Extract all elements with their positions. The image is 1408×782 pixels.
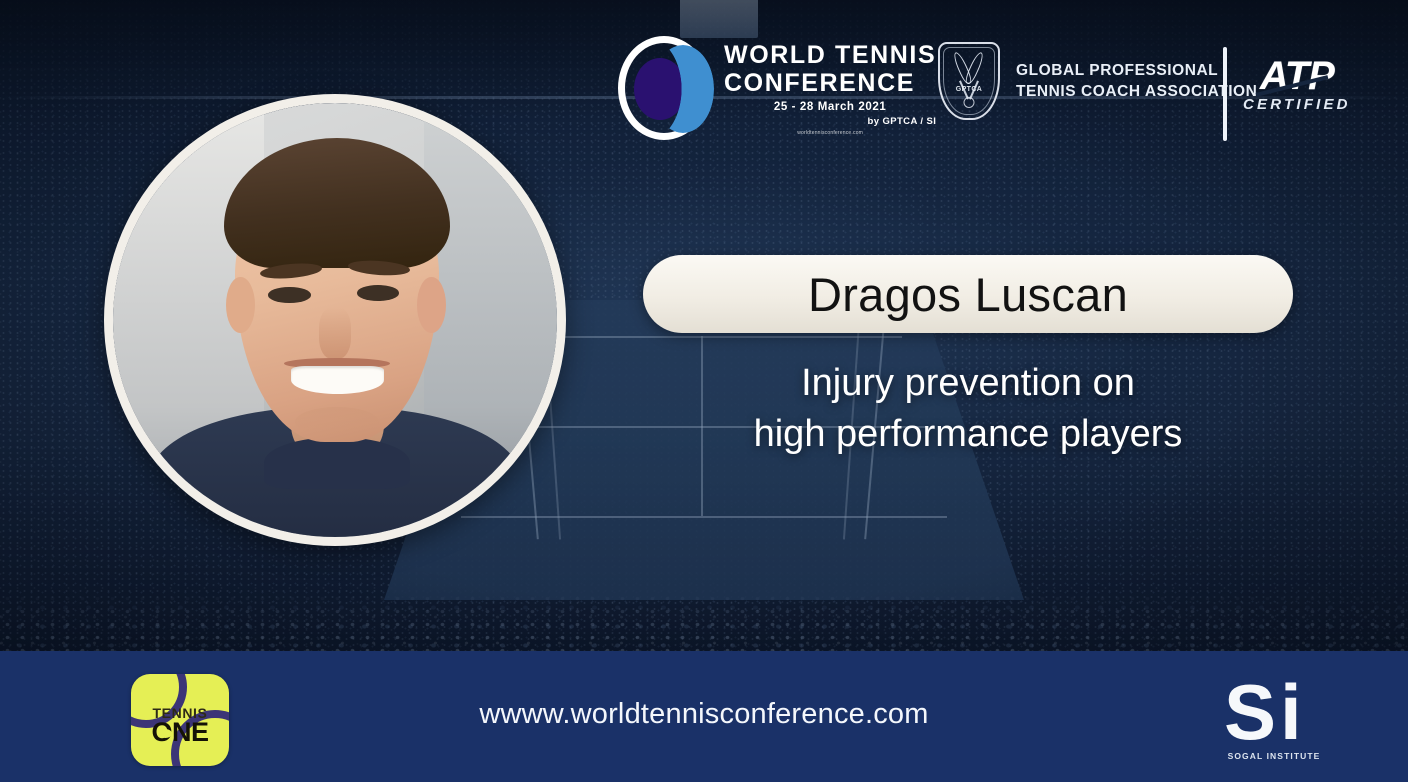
photo-chin <box>295 407 379 437</box>
tennis-ball-icon <box>964 97 975 108</box>
photo-ear-right <box>417 277 446 333</box>
shield-label: GPTCA <box>938 86 1000 93</box>
sogal-institute-logo: S i SOGAL INSTITUTE <box>1218 669 1330 769</box>
sogal-subtitle: SOGAL INSTITUTE <box>1218 751 1330 761</box>
atp-wordmark: ATP <box>1243 58 1351 95</box>
atp-certified-label: CERTIFIED <box>1243 96 1351 113</box>
talk-title: Injury prevention on high performance pl… <box>640 358 1296 460</box>
photo-ear-left <box>226 277 255 333</box>
sogal-mark-i: i <box>1280 673 1302 751</box>
atp-certified-logo: ATP CERTIFIED <box>1243 58 1351 113</box>
wtc-byline: by GPTCA / SI <box>724 116 936 127</box>
wtc-blue-crescent <box>652 45 714 133</box>
speaker-slide: WORLD TENNIS CONFERENCE 25 - 28 March 20… <box>0 0 1408 782</box>
portrait-photo <box>113 103 557 537</box>
gptca-wordmark: GLOBAL PROFESSIONAL TENNIS COACH ASSOCIA… <box>1016 60 1257 102</box>
photo-collar <box>264 437 411 489</box>
logo-divider <box>1223 47 1227 141</box>
wtc-dates: 25 - 28 March 2021 <box>724 101 936 113</box>
speaker-name: Dragos Luscan <box>808 267 1128 322</box>
sogal-mark-s: S <box>1224 673 1276 751</box>
website-url: wwww.worldtennisconference.com <box>0 698 1408 731</box>
speaker-portrait <box>104 94 566 546</box>
photo-eye-right <box>357 285 399 301</box>
gptca-logo: GPTCA GLOBAL PROFESSIONAL TENNIS COACH A… <box>938 42 1257 120</box>
wtc-small-url: worldtennisconference.com <box>724 130 936 136</box>
gptca-line2: TENNIS COACH ASSOCIATION <box>1016 81 1257 102</box>
world-tennis-conference-logo: WORLD TENNIS CONFERENCE 25 - 28 March 20… <box>612 32 936 144</box>
wtc-line2: CONFERENCE <box>724 69 936 97</box>
photo-nose <box>319 307 350 359</box>
gptca-shield-icon: GPTCA <box>938 42 1000 120</box>
footer-bar: TENNIS ONE wwww.worldtennisconference.co… <box>0 651 1408 782</box>
gptca-line1: GLOBAL PROFESSIONAL <box>1016 60 1257 81</box>
wtc-crescent-icon <box>612 32 720 144</box>
talk-title-line1: Injury prevention on <box>640 358 1296 409</box>
wtc-wordmark: WORLD TENNIS CONFERENCE 25 - 28 March 20… <box>724 41 936 136</box>
wtc-line1: WORLD TENNIS <box>724 41 936 69</box>
talk-title-line2: high performance players <box>640 409 1296 460</box>
photo-smile <box>291 366 384 394</box>
speaker-name-pill: Dragos Luscan <box>643 255 1293 333</box>
photo-eye-left <box>268 287 310 303</box>
